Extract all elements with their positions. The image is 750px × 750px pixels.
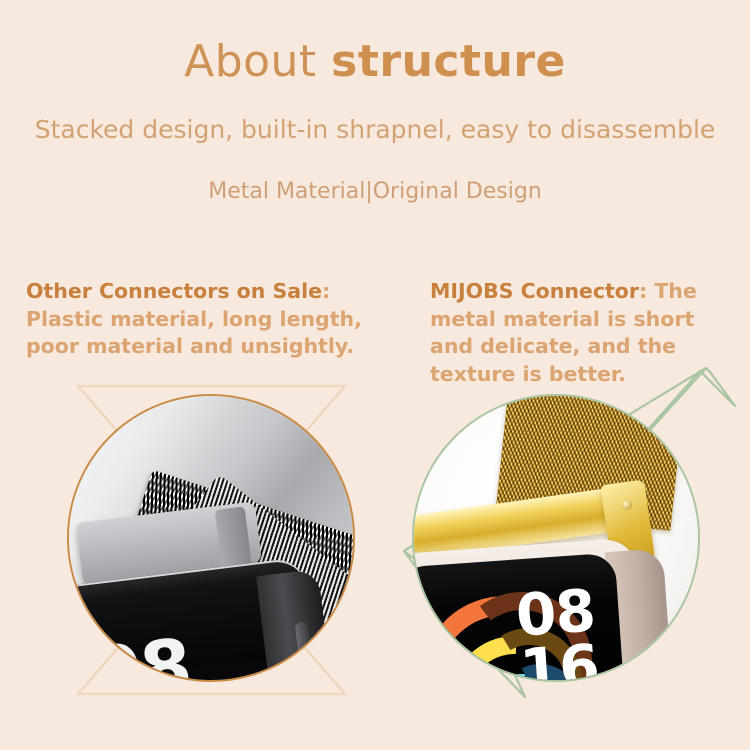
right-caption: MIJOBS Connector: The metal material is … — [430, 278, 730, 389]
left-caption-heading: Other Connectors on Sale — [26, 279, 322, 303]
page-title-light: About — [184, 36, 331, 87]
left-caption-separator: : — [322, 279, 330, 303]
page-root: About structure Stacked design, built-in… — [0, 0, 750, 750]
left-photo-content: 08 — [69, 396, 353, 680]
right-product-photo: 08 16 — [412, 394, 700, 682]
page-title: About structure — [0, 36, 750, 87]
right-caption-separator: : — [639, 279, 654, 303]
right-watch-minutes: 16 — [518, 638, 600, 682]
left-caption: Other Connectors on Sale: Plastic materi… — [26, 278, 386, 361]
right-caption-heading: MIJOBS Connector — [430, 279, 639, 303]
right-photo-content: 08 16 — [414, 396, 698, 680]
page-title-bold: structure — [331, 36, 566, 87]
left-watch-time: 08 — [87, 623, 194, 682]
subtitle-primary: Stacked design, built-in shrapnel, easy … — [0, 115, 750, 144]
subtitle-secondary: Metal Material|Original Design — [0, 179, 750, 204]
left-caption-body: Plastic material, long length, poor mate… — [26, 307, 362, 359]
left-product-photo: 08 — [67, 394, 355, 682]
right-watch-time: 08 16 — [514, 583, 600, 682]
